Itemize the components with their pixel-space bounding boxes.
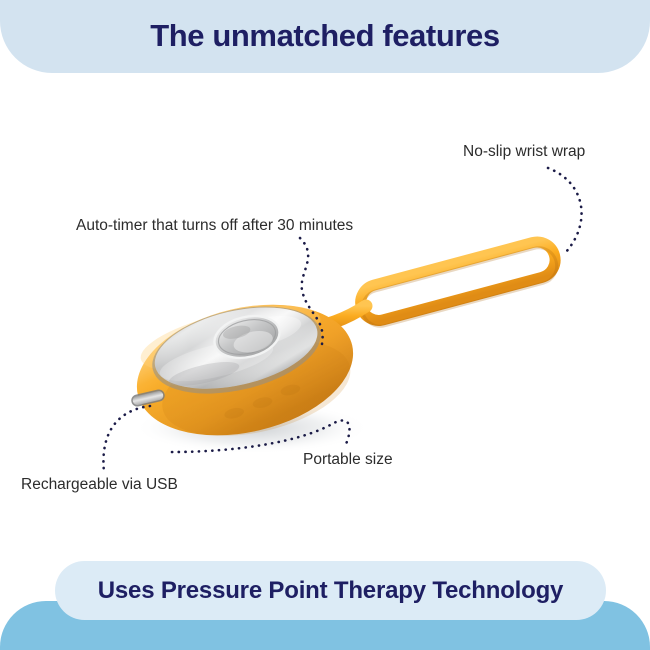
page-title: The unmatched features [150,20,500,51]
callout-label-auto-timer: Auto-timer that turns off after 30 minut… [76,218,353,234]
connector-wrist-wrap [548,168,582,252]
connector-auto-timer [300,238,323,344]
callout-label-portable-size: Portable size [303,452,393,468]
bottom-banner-pill: Uses Pressure Point Therapy Technology [55,561,606,620]
connector-usb [103,406,150,472]
top-banner: The unmatched features [0,0,650,73]
callout-connectors [0,0,650,650]
promo-graphic-stage: The unmatched features No-slip wrist wra… [0,0,650,650]
connector-portable [172,420,349,452]
callout-label-wrist-wrap: No-slip wrist wrap [463,144,585,160]
callout-label-rechargeable-usb: Rechargeable via USB [21,477,178,493]
bottom-banner-title: Uses Pressure Point Therapy Technology [98,579,563,603]
